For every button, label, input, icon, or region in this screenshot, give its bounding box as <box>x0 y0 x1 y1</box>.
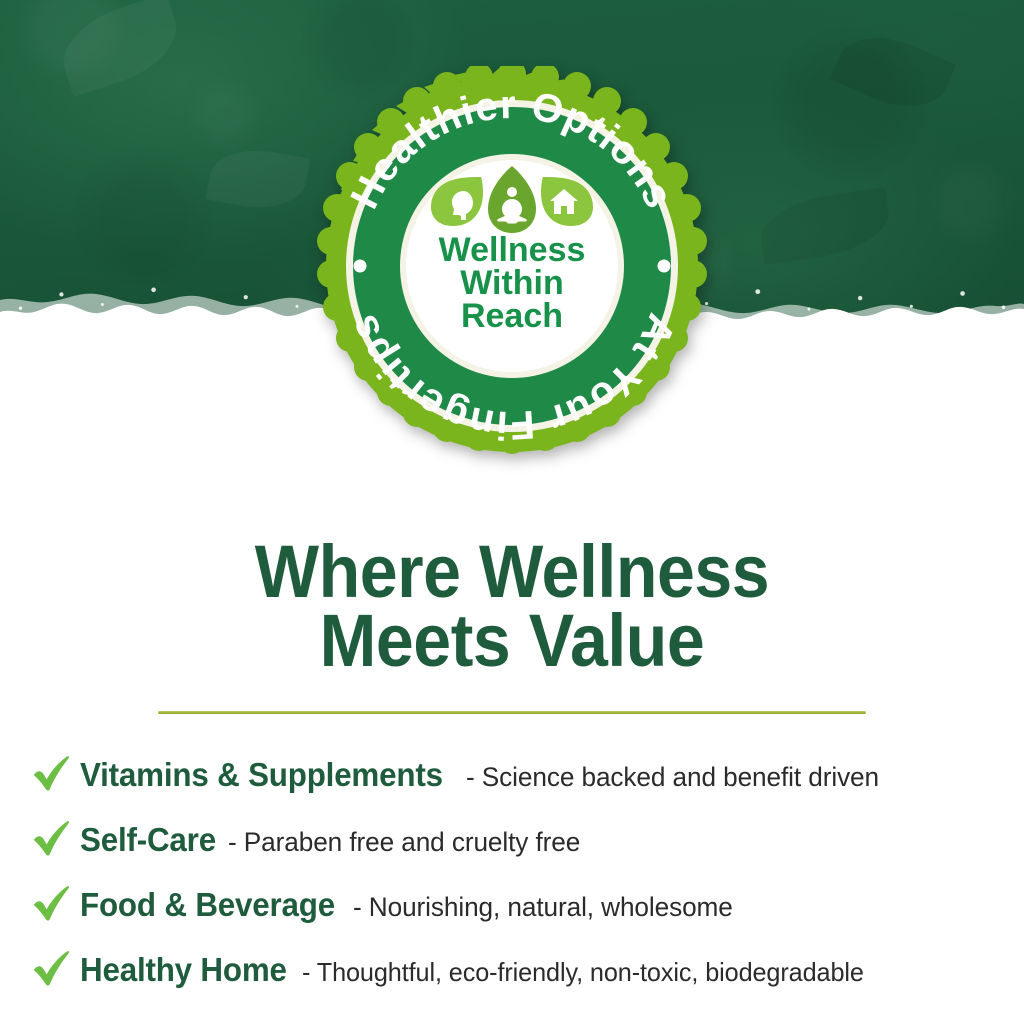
list-item-text: Healthy Home - Thoughtful, eco-friendly,… <box>80 951 881 989</box>
list-item: Food & Beverage - Nourishing, natural, w… <box>28 870 1008 935</box>
benefit-label: Self-Care <box>80 821 216 859</box>
benefit-description: - Nourishing, natural, wholesome <box>353 892 733 923</box>
list-item: Self-Care - Paraben free and cruelty fre… <box>28 805 1008 870</box>
benefit-description: - Paraben free and cruelty free <box>228 827 580 858</box>
title-divider <box>158 711 866 714</box>
benefit-description: - Science backed and benefit driven <box>466 762 879 793</box>
poster-canvas: Healthier Options At Your Fingertips <box>0 0 1024 1024</box>
check-icon <box>28 880 74 926</box>
badge-center-line: Reach <box>461 297 563 335</box>
benefit-label: Food & Beverage <box>80 886 335 924</box>
benefit-description: - Thoughtful, eco-friendly, non-toxic, b… <box>302 957 864 988</box>
badge-dot-right <box>658 260 671 273</box>
check-icon <box>28 750 74 796</box>
badge-dot-left <box>354 260 367 273</box>
list-item-text: Self-Care - Paraben free and cruelty fre… <box>80 821 591 859</box>
wellness-seal-badge: Healthier Options At Your Fingertips <box>312 66 712 466</box>
list-item-text: Vitamins & Supplements - Science backed … <box>80 756 892 794</box>
headline-line-2: Meets Value <box>41 607 983 676</box>
benefit-label: Healthy Home <box>80 951 287 989</box>
benefits-list: Vitamins & Supplements - Science backed … <box>28 740 1008 1000</box>
page-title: Where Wellness Meets Value <box>41 538 983 676</box>
benefit-label: Vitamins & Supplements <box>80 756 443 794</box>
check-icon <box>28 815 74 861</box>
list-item: Healthy Home - Thoughtful, eco-friendly,… <box>28 935 1008 1000</box>
check-icon <box>28 945 74 991</box>
list-item: Vitamins & Supplements - Science backed … <box>28 740 1008 805</box>
list-item-text: Food & Beverage - Nourishing, natural, w… <box>80 886 744 924</box>
